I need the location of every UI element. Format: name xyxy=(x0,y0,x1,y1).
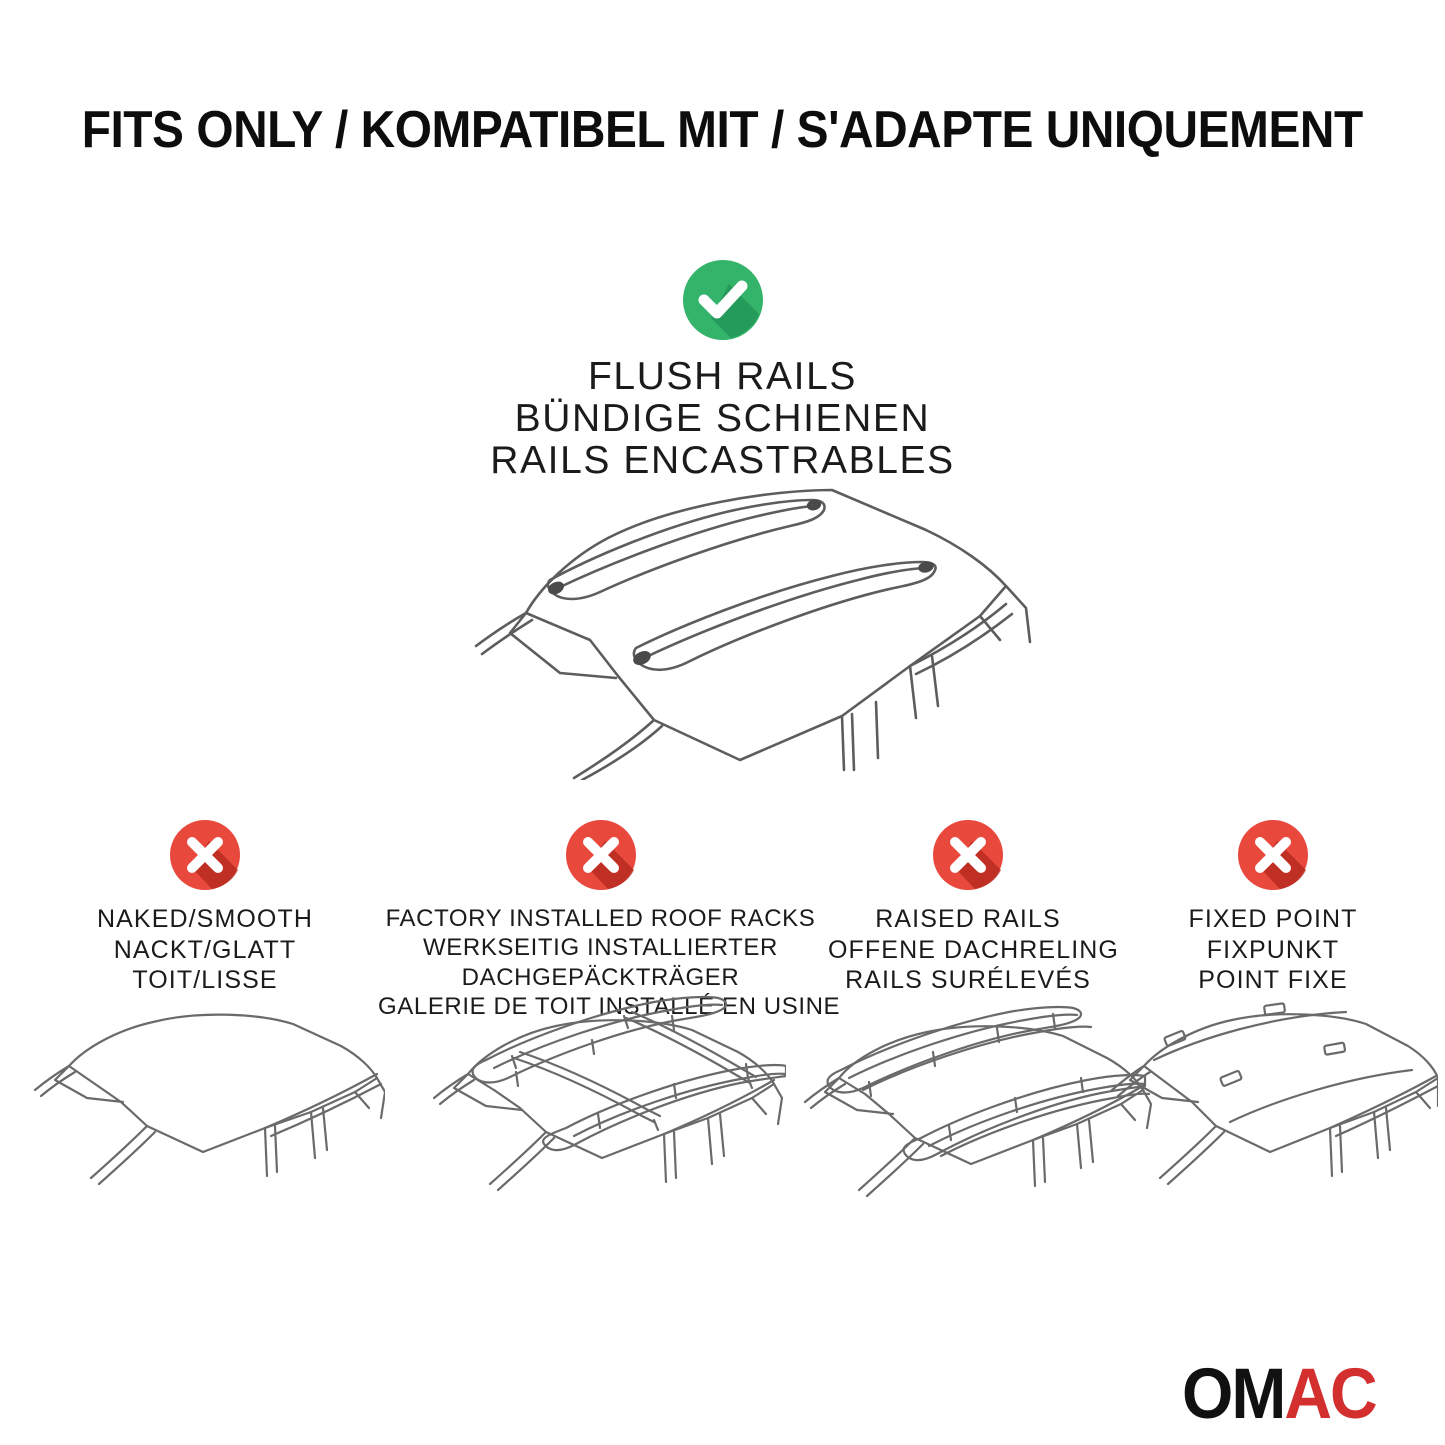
x-circle-icon xyxy=(564,818,638,892)
x-circle-icon xyxy=(931,818,1005,892)
x-circle-icon xyxy=(168,818,242,892)
option-label-fr: RAILS SURÉLEVÉS xyxy=(828,965,1108,996)
option-label-de: OFFENE DACHRELING xyxy=(828,935,1108,966)
option-label-en: NAKED/SMOOTH xyxy=(40,904,370,935)
page-title: FITS ONLY / KOMPATIBEL MIT / S'ADAPTE UN… xyxy=(82,104,1363,156)
omac-logo: OMAC xyxy=(1182,1362,1376,1424)
incompatible-option-raised-rails: RAISED RAILS OFFENE DACHRELING RAILS SUR… xyxy=(828,818,1108,996)
factory-roof-racks-illustration xyxy=(416,986,786,1201)
logo-text-dark: OM xyxy=(1182,1360,1284,1427)
option-label-en: FACTORY INSTALLED ROOF RACKS xyxy=(378,904,823,933)
option-label-de: FIXPUNKT xyxy=(1128,935,1418,966)
approved-label-group: FLUSH RAILS BÜNDIGE SCHIENEN RAILS ENCAS… xyxy=(0,356,1445,482)
check-circle-icon xyxy=(681,258,765,342)
label-group: RAISED RAILS OFFENE DACHRELING RAILS SUR… xyxy=(828,904,1108,996)
option-label-fr: TOIT/LISSE xyxy=(40,965,370,996)
page-title-bar: FITS ONLY / KOMPATIBEL MIT / S'ADAPTE UN… xyxy=(0,104,1445,156)
naked-smooth-roof-illustration xyxy=(25,1000,385,1200)
fixed-point-roof-illustration xyxy=(1108,998,1438,1198)
label-group: FIXED POINT FIXPUNKT POINT FIXE xyxy=(1128,904,1418,996)
approved-section: FLUSH RAILS BÜNDIGE SCHIENEN RAILS ENCAS… xyxy=(0,258,1445,482)
option-label-en: FIXED POINT xyxy=(1128,904,1418,935)
option-label-de-1: WERKSEITIG INSTALLIERTER xyxy=(378,933,823,962)
incompatible-option-factory-roof-racks: FACTORY INSTALLED ROOF RACKS WERKSEITIG … xyxy=(378,818,823,1021)
incompatible-option-fixed-point: FIXED POINT FIXPUNKT POINT FIXE xyxy=(1128,818,1418,996)
logo-text-red: AC xyxy=(1284,1360,1375,1427)
x-circle-icon xyxy=(1236,818,1310,892)
approved-label-en: FLUSH RAILS xyxy=(0,356,1445,398)
raised-rails-illustration xyxy=(783,994,1153,1199)
flush-rails-roof-illustration xyxy=(440,470,1040,780)
option-label-en: RAISED RAILS xyxy=(828,904,1108,935)
option-label-fr: POINT FIXE xyxy=(1128,965,1418,996)
approved-label-de: BÜNDIGE SCHIENEN xyxy=(0,398,1445,440)
label-group: NAKED/SMOOTH NACKT/GLATT TOIT/LISSE xyxy=(40,904,370,996)
option-label-de: NACKT/GLATT xyxy=(40,935,370,966)
incompatible-option-naked-smooth: NAKED/SMOOTH NACKT/GLATT TOIT/LISSE xyxy=(40,818,370,996)
incompatible-section: NAKED/SMOOTH NACKT/GLATT TOIT/LISSE xyxy=(0,818,1445,1238)
